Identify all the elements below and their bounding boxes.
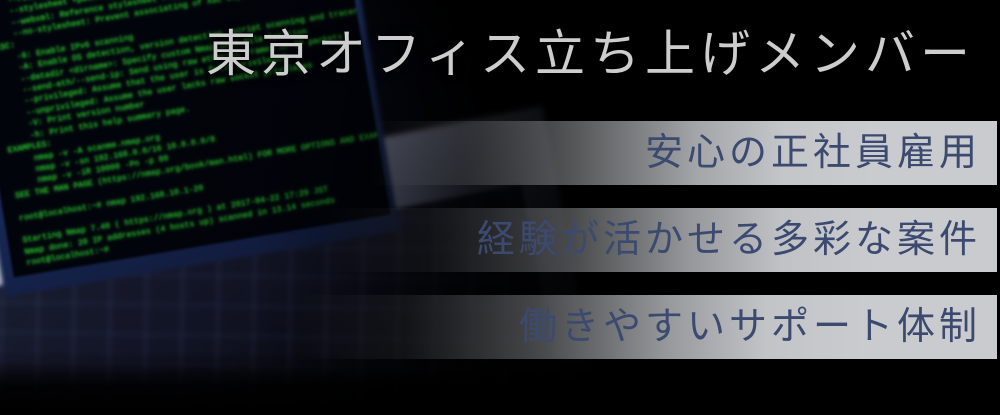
- page-title: 東京オフィス立ち上げメンバー: [206, 24, 986, 84]
- recruitment-banner: --iflist: Print host interfaces and rout…: [0, 0, 1000, 415]
- feature-bar-3-label: 働きやすいサポート体制: [519, 305, 997, 349]
- photo-bottom-fade: [0, 351, 1000, 415]
- feature-bar-1-label: 安心の正社員雇用: [645, 131, 997, 175]
- feature-bar-1: 安心の正社員雇用: [372, 121, 997, 185]
- feature-bar-2: 経験が活かせる多彩な案件: [322, 208, 997, 272]
- feature-bar-3: 働きやすいサポート体制: [300, 295, 997, 359]
- feature-bar-2-label: 経験が活かせる多彩な案件: [477, 218, 997, 262]
